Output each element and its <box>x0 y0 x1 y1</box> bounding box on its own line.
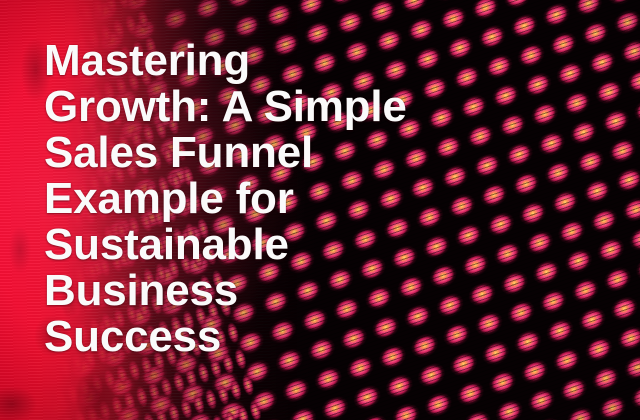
hero-banner: Mastering Growth: A Simple Sales Funnel … <box>0 0 640 420</box>
banner-headline: Mastering Growth: A Simple Sales Funnel … <box>44 38 474 360</box>
